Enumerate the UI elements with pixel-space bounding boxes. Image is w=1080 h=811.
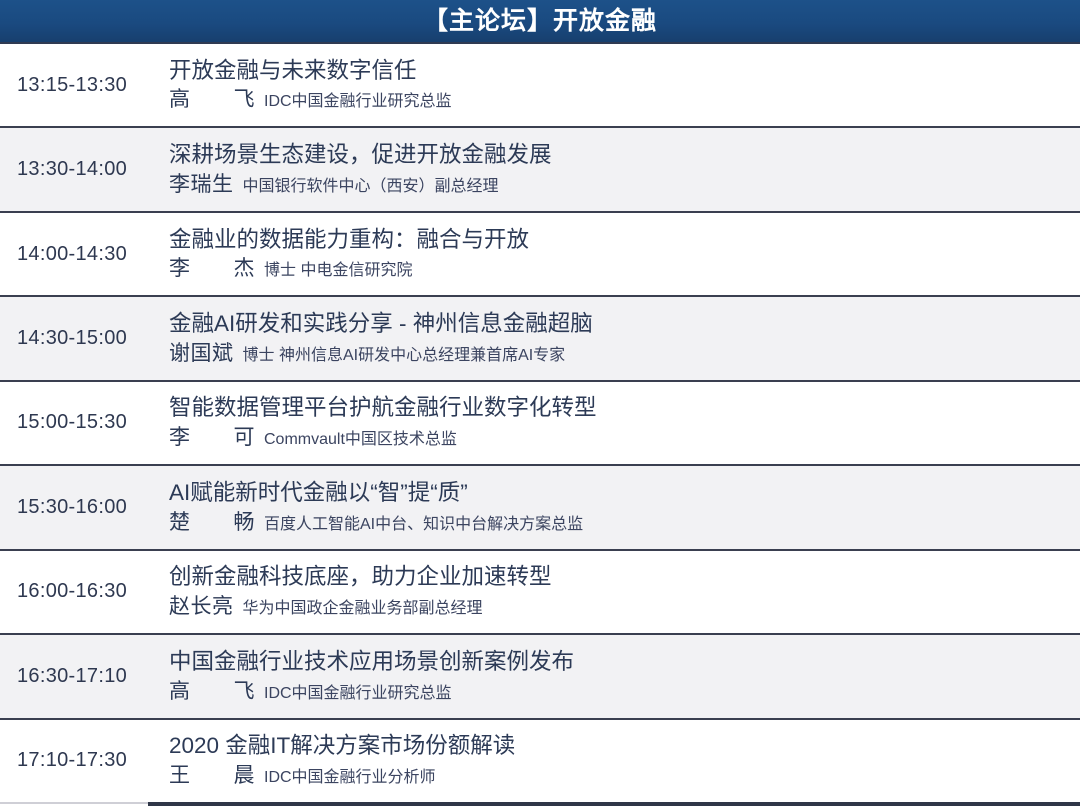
session-speaker-affiliation: Commvault中国区技术总监 (264, 430, 457, 450)
session-info: 开放金融与未来数字信任 高 飞 IDC中国金融行业研究总监 (148, 57, 1080, 114)
session-speaker-line: 李瑞生 中国银行软件中心（西安）副总经理 (169, 172, 1066, 198)
session-speaker-affiliation: IDC中国金融行业研究总监 (264, 684, 452, 704)
session-time: 14:00-14:30 (0, 243, 148, 266)
session-time: 14:30-15:00 (0, 327, 148, 350)
session-speaker-name: 李 杰 (169, 256, 255, 282)
footer-rules (0, 802, 1080, 811)
session-row[interactable]: 15:30-16:00 AI赋能新时代金融以“智”提“质” 楚 畅 百度人工智能… (0, 466, 1080, 550)
session-time: 17:10-17:30 (0, 749, 148, 772)
session-speaker-affiliation: 博士 中电金信研究院 (264, 261, 412, 281)
session-speaker-affiliation: IDC中国金融行业研究总监 (264, 92, 452, 112)
session-row[interactable]: 16:00-16:30 创新金融科技底座，助力企业加速转型 赵长亮 华为中国政企… (0, 551, 1080, 635)
session-speaker-affiliation: 中国银行软件中心（西安）副总经理 (243, 177, 499, 197)
session-row[interactable]: 13:30-14:00 深耕场景生态建设，促进开放金融发展 李瑞生 中国银行软件… (0, 128, 1080, 212)
session-speaker-affiliation: 华为中国政企金融业务部副总经理 (243, 599, 483, 619)
session-speaker-line: 王 晨 IDC中国金融行业分析师 (169, 763, 1066, 789)
session-info: 金融AI研发和实践分享 - 神州信息金融超脑 谢国斌 博士 神州信息AI研发中心… (148, 310, 1080, 367)
session-row[interactable]: 13:15-13:30 开放金融与未来数字信任 高 飞 IDC中国金融行业研究总… (0, 44, 1080, 128)
session-speaker-affiliation: 博士 神州信息AI研发中心总经理兼首席AI专家 (243, 346, 566, 366)
session-list: 13:15-13:30 开放金融与未来数字信任 高 飞 IDC中国金融行业研究总… (0, 44, 1080, 802)
session-speaker-line: 楚 畅 百度人工智能AI中台、知识中台解决方案总监 (169, 510, 1066, 536)
session-speaker-line: 高 飞 IDC中国金融行业研究总监 (169, 87, 1066, 113)
session-row[interactable]: 15:00-15:30 智能数据管理平台护航金融行业数字化转型 李 可 Comm… (0, 382, 1080, 466)
session-info: 创新金融科技底座，助力企业加速转型 赵长亮 华为中国政企金融业务部副总经理 (148, 563, 1080, 620)
session-row[interactable]: 17:10-17:30 2020 金融IT解决方案市场份额解读 王 晨 IDC中… (0, 720, 1080, 802)
session-speaker-name: 王 晨 (169, 763, 255, 789)
session-speaker-line: 赵长亮 华为中国政企金融业务部副总经理 (169, 594, 1066, 620)
banner-title: 【主论坛】开放金融 (423, 9, 657, 34)
session-speaker-affiliation: 百度人工智能AI中台、知识中台解决方案总监 (264, 515, 583, 535)
session-time: 16:30-17:10 (0, 665, 148, 688)
session-speaker-line: 谢国斌 博士 神州信息AI研发中心总经理兼首席AI专家 (169, 341, 1066, 367)
session-speaker-name: 高 飞 (169, 679, 255, 705)
session-speaker-line: 李 可 Commvault中国区技术总监 (169, 425, 1066, 451)
footer-rule-dark (148, 802, 1080, 811)
session-speaker-name: 高 飞 (169, 87, 255, 113)
session-info: 智能数据管理平台护航金融行业数字化转型 李 可 Commvault中国区技术总监 (148, 394, 1080, 451)
session-row[interactable]: 14:00-14:30 金融业的数据能力重构：融合与开放 李 杰 博士 中电金信… (0, 213, 1080, 297)
session-speaker-name: 楚 畅 (169, 510, 255, 536)
session-speaker-name: 李 可 (169, 425, 255, 451)
session-time: 13:30-14:00 (0, 158, 148, 181)
session-info: 金融业的数据能力重构：融合与开放 李 杰 博士 中电金信研究院 (148, 226, 1080, 283)
session-time: 13:15-13:30 (0, 74, 148, 97)
forum-banner: 【主论坛】开放金融 (0, 0, 1080, 44)
session-info: AI赋能新时代金融以“智”提“质” 楚 畅 百度人工智能AI中台、知识中台解决方… (148, 479, 1080, 536)
session-row[interactable]: 14:30-15:00 金融AI研发和实践分享 - 神州信息金融超脑 谢国斌 博… (0, 297, 1080, 381)
session-time: 16:00-16:30 (0, 580, 148, 603)
session-info: 深耕场景生态建设，促进开放金融发展 李瑞生 中国银行软件中心（西安）副总经理 (148, 141, 1080, 198)
session-speaker-name: 赵长亮 (169, 594, 234, 620)
session-info: 2020 金融IT解决方案市场份额解读 王 晨 IDC中国金融行业分析师 (148, 732, 1080, 789)
session-title: 开放金融与未来数字信任 (169, 57, 1066, 86)
session-title: 深耕场景生态建设，促进开放金融发展 (169, 141, 1066, 170)
session-title: 金融AI研发和实践分享 - 神州信息金融超脑 (169, 310, 1066, 339)
session-time: 15:30-16:00 (0, 496, 148, 519)
session-title: 智能数据管理平台护航金融行业数字化转型 (169, 394, 1066, 423)
session-row[interactable]: 16:30-17:10 中国金融行业技术应用场景创新案例发布 高 飞 IDC中国… (0, 635, 1080, 719)
session-speaker-line: 李 杰 博士 中电金信研究院 (169, 256, 1066, 282)
session-title: 金融业的数据能力重构：融合与开放 (169, 226, 1066, 255)
session-title: 中国金融行业技术应用场景创新案例发布 (169, 648, 1066, 677)
agenda-schedule: 【主论坛】开放金融 13:15-13:30 开放金融与未来数字信任 高 飞 ID… (0, 0, 1080, 811)
session-speaker-name: 谢国斌 (169, 341, 234, 367)
session-title: 创新金融科技底座，助力企业加速转型 (169, 563, 1066, 592)
session-speaker-line: 高 飞 IDC中国金融行业研究总监 (169, 679, 1066, 705)
footer-rule-light (0, 802, 148, 811)
session-speaker-name: 李瑞生 (169, 172, 234, 198)
session-title: AI赋能新时代金融以“智”提“质” (169, 479, 1066, 508)
session-time: 15:00-15:30 (0, 411, 148, 434)
session-speaker-affiliation: IDC中国金融行业分析师 (264, 768, 436, 788)
session-info: 中国金融行业技术应用场景创新案例发布 高 飞 IDC中国金融行业研究总监 (148, 648, 1080, 705)
session-title: 2020 金融IT解决方案市场份额解读 (169, 732, 1066, 761)
